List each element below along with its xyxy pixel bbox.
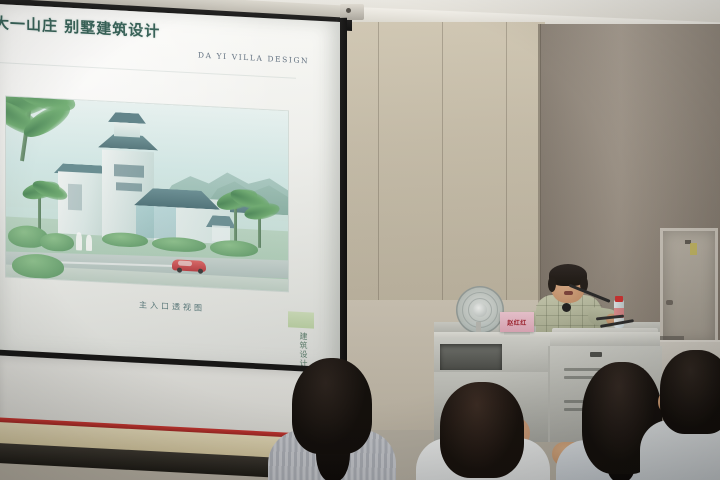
rendering-person bbox=[76, 232, 82, 250]
fan-hub bbox=[473, 303, 487, 317]
slide-image-caption: 主入口透视图 bbox=[112, 298, 232, 315]
lecture-hall-photo: 大一山庄 别墅建筑设计 DA YI VILLA DESIGN bbox=[0, 0, 720, 480]
audience-member-head bbox=[660, 350, 720, 434]
slide-title-chinese: 大一山庄 别墅建筑设计 bbox=[0, 12, 194, 43]
door-notice bbox=[690, 243, 697, 255]
rendering-car-wheel bbox=[177, 267, 182, 272]
screen-mount-bolt bbox=[346, 8, 351, 13]
slide-sidebar-label: 建筑设计 bbox=[293, 332, 309, 369]
rendering-window bbox=[114, 164, 144, 178]
slide-sidebar-swatch bbox=[288, 311, 314, 328]
door-handle-icon[interactable] bbox=[666, 300, 673, 305]
door[interactable] bbox=[660, 228, 718, 346]
slide-title-english: DA YI VILLA DESIGN bbox=[198, 51, 309, 66]
rendering-person bbox=[86, 235, 92, 251]
podium-opening bbox=[440, 344, 502, 370]
microphone-head-icon bbox=[562, 303, 571, 312]
name-placard-text: 赵红红 bbox=[502, 318, 532, 327]
rendering-left-wing bbox=[58, 171, 106, 236]
rendering-car-wheel bbox=[198, 269, 203, 274]
bottle-cap bbox=[615, 296, 623, 302]
presenter-mouth bbox=[564, 291, 573, 295]
slide-divider bbox=[0, 62, 296, 79]
rendering-glass-facade bbox=[136, 205, 176, 239]
projection-screen: 大一山庄 别墅建筑设计 DA YI VILLA DESIGN bbox=[0, 4, 340, 382]
presenter-hair-left bbox=[548, 276, 556, 292]
rendering-window bbox=[116, 182, 142, 191]
rendering-window bbox=[68, 184, 82, 211]
audience-member-head bbox=[292, 358, 372, 454]
villa-rendering-image bbox=[6, 96, 288, 291]
audience-member-head bbox=[440, 382, 524, 478]
presentation-slide: 大一山庄 别墅建筑设计 DA YI VILLA DESIGN bbox=[0, 4, 340, 382]
rendering-car-window bbox=[178, 261, 192, 267]
wall-left-panel bbox=[330, 22, 545, 322]
